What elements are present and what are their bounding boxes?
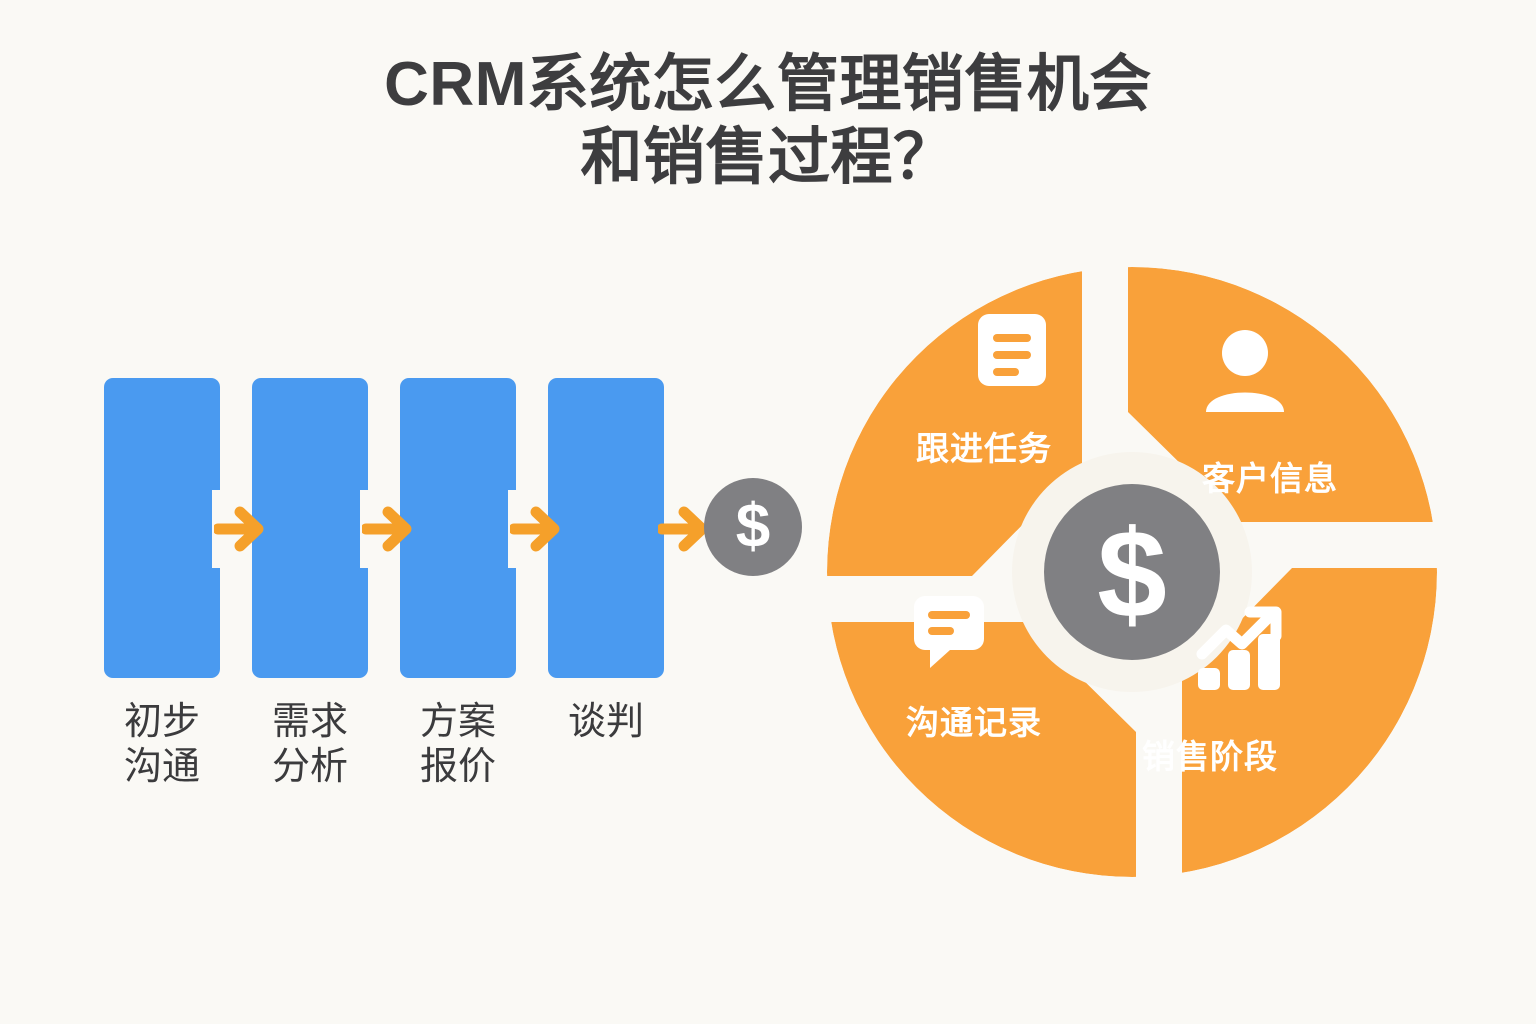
pipeline-stage-labels: 初步 沟通 需求 分析 方案 报价 谈判 <box>96 700 816 820</box>
sales-pipeline-diagram: $ 初步 沟通 需求 分析 方案 报价 谈判 <box>96 378 816 818</box>
pipeline-stage-label-2: 需求 分析 <box>245 700 375 790</box>
dollar-sign-icon: $ <box>721 490 785 564</box>
title-line-2: 和销售过程？ <box>0 121 1536 194</box>
stage-label-line-2: 报价 <box>393 745 523 790</box>
arrow-right-icon <box>214 506 266 552</box>
crm-capability-cycle-diagram: $ 跟进任务 客户信息 <box>822 262 1442 882</box>
dollar-sign-icon: $ <box>1097 505 1167 644</box>
stage-label-line-1: 初步 <box>97 700 227 745</box>
arrow-right-icon <box>510 506 562 552</box>
stage-label-line-2: 沟通 <box>97 745 227 790</box>
stage-label-line-2: 分析 <box>245 745 375 790</box>
person-icon <box>1202 328 1288 412</box>
pipeline-deal-won-coin: $ <box>704 478 802 576</box>
document-list-icon <box>974 310 1050 390</box>
cycle-segment-label-sales-stage: 销售阶段 <box>1142 730 1278 778</box>
pipeline-stage-label-3: 方案 报价 <box>393 700 523 790</box>
arrow-right-icon <box>362 506 414 552</box>
pipeline-stage-bar-2 <box>252 378 368 678</box>
cycle-segment-label-follow-up-tasks: 跟进任务 <box>916 422 1052 470</box>
pipeline-stage-bar-1 <box>104 378 220 678</box>
pipeline-stage-bar-3 <box>400 378 516 678</box>
cycle-segment-label-communication-records: 沟通记录 <box>906 696 1042 744</box>
growth-chart-icon <box>1194 606 1288 692</box>
pipeline-stage-label-4: 谈判 <box>541 700 671 745</box>
page-title: CRM系统怎么管理销售机会 和销售过程？ <box>0 48 1536 194</box>
chat-bubble-icon <box>910 592 988 670</box>
stage-label-line-1: 谈判 <box>541 700 671 745</box>
arrow-right-icon <box>658 506 710 552</box>
title-line-1: CRM系统怎么管理销售机会 <box>0 48 1536 121</box>
svg-text:$: $ <box>736 492 770 561</box>
cycle-segment-label-customer-info: 客户信息 <box>1202 452 1338 500</box>
stage-label-line-1: 方案 <box>393 700 523 745</box>
pipeline-stage-label-1: 初步 沟通 <box>97 700 227 790</box>
pipeline-stage-bar-4 <box>548 378 664 678</box>
stage-label-line-1: 需求 <box>245 700 375 745</box>
